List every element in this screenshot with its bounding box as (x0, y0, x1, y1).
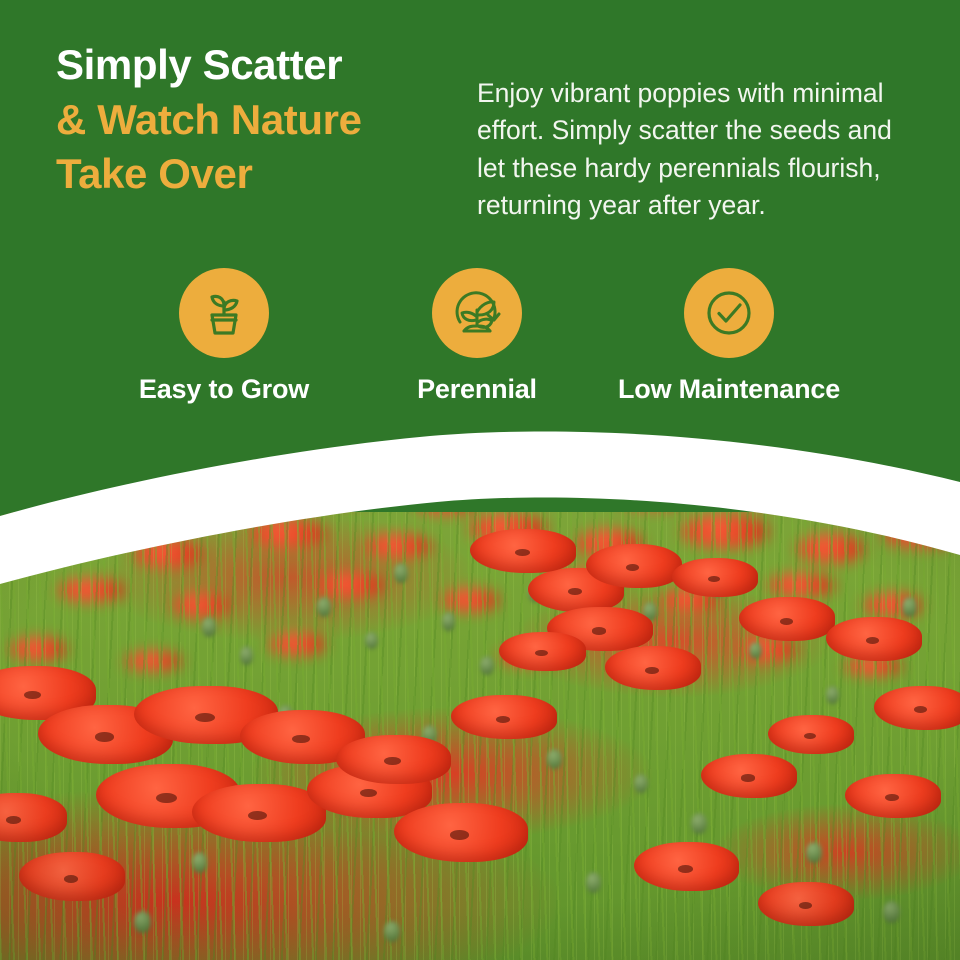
product-infographic-poster: Simply Scatter & Watch Nature Take Over … (0, 0, 960, 960)
feature-badge-circle (179, 268, 269, 358)
poppy-field-photo (0, 470, 960, 960)
feature-badge-row: Easy to Grow (0, 268, 960, 418)
feature-low-maintenance: Low Maintenance (589, 268, 869, 405)
feature-perennial: Perennial (399, 268, 555, 405)
feature-easy-to-grow: Easy to Grow (128, 268, 320, 405)
feature-label: Low Maintenance (589, 374, 869, 405)
headline-line-3: Take Over (56, 147, 456, 202)
potted-seedling-icon (196, 285, 252, 341)
feature-badge-circle (432, 268, 522, 358)
feature-label: Easy to Grow (128, 374, 320, 405)
hero-body-copy: Enjoy vibrant poppies with minimal effor… (477, 75, 897, 226)
feature-badge-circle (684, 268, 774, 358)
headline-line-1: Simply Scatter (56, 38, 456, 93)
photo-vignette (0, 470, 960, 960)
headline-line-2: & Watch Nature (56, 93, 456, 148)
page-title: Simply Scatter & Watch Nature Take Over (56, 38, 456, 202)
plant-renewal-arrow-icon (448, 284, 506, 342)
check-circle-icon (700, 284, 758, 342)
feature-label: Perennial (399, 374, 555, 405)
